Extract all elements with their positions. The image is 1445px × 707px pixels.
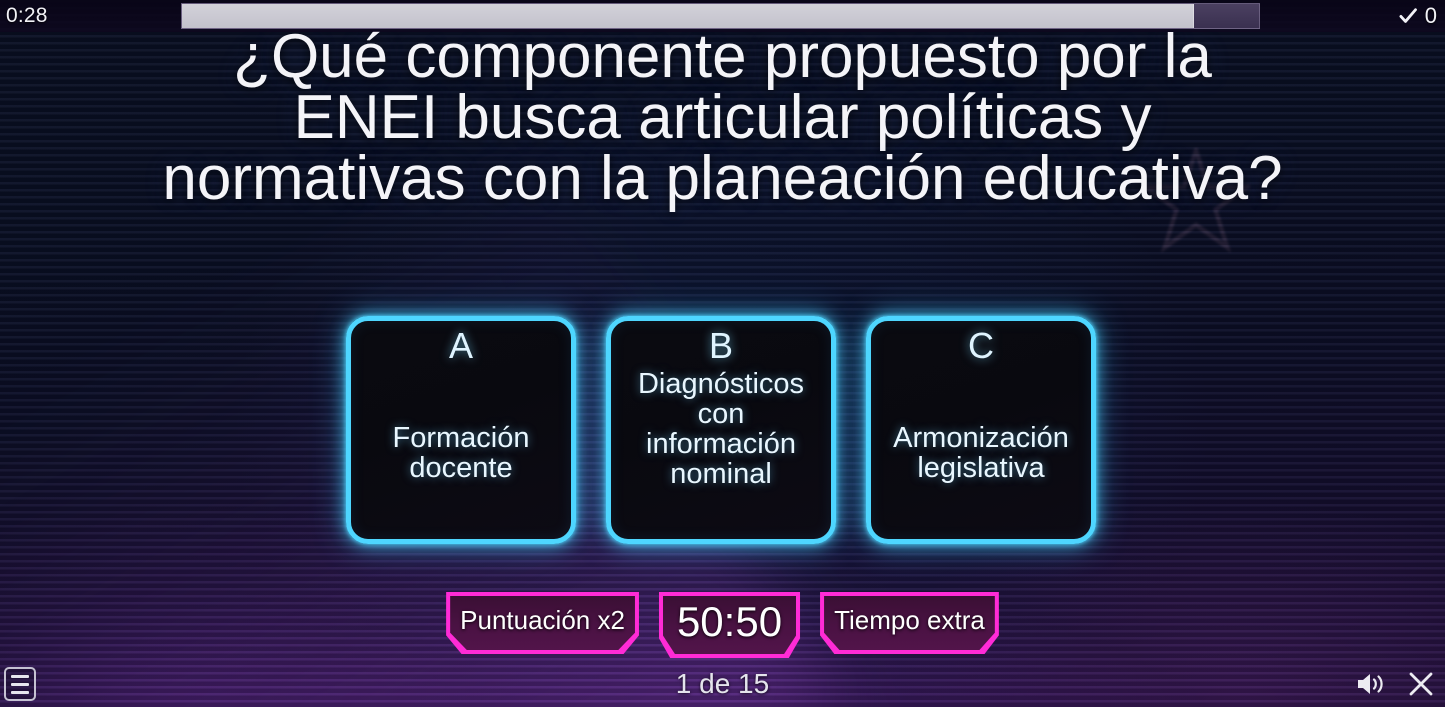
close-icon[interactable] [1407,670,1435,698]
powerup-double-points-button[interactable]: Puntuación x2 [446,592,639,654]
bottom-right-controls [1355,670,1435,698]
countdown-timer: 0:28 [6,4,48,28]
answer-options: A Formación docente B Diagnósticos con i… [346,316,1096,544]
answer-letter-b: B [709,325,733,367]
score-group: 0 [1398,3,1437,29]
score-value: 0 [1425,3,1437,29]
quiz-screen: 0:28 0 ¿Qué componente propuesto por la … [0,0,1445,707]
check-icon [1398,6,1418,26]
answer-card-c[interactable]: C Armonización legislativa [866,316,1096,544]
answer-text-c: Armonización legislativa [871,367,1091,539]
powerup-bar: Puntuación x2 50:50 Tiempo extra [0,592,1445,658]
volume-on-icon[interactable] [1355,671,1385,697]
page-indicator: 1 de 15 [0,668,1445,700]
powerup-fifty-fifty-button[interactable]: 50:50 [659,592,800,658]
answer-text-b: Diagnósticos con información nominal [611,367,831,539]
powerup-fifty-fifty-label: 50:50 [677,601,782,643]
question-progress-bar [181,3,1260,29]
answer-card-a[interactable]: A Formación docente [346,316,576,544]
top-status-bar: 0:28 0 [0,0,1445,32]
answer-letter-a: A [449,325,473,367]
answer-text-a: Formación docente [351,367,571,539]
question-text: ¿Qué componente propuesto por la ENEI bu… [0,26,1445,209]
question-progress-fill [182,4,1194,28]
powerup-extra-time-label: Tiempo extra [834,607,985,633]
answer-card-b[interactable]: B Diagnósticos con información nominal [606,316,836,544]
answer-letter-c: C [968,325,994,367]
powerup-extra-time-button[interactable]: Tiempo extra [820,592,999,654]
bottom-control-bar: 1 de 15 [0,661,1445,707]
powerup-double-points-label: Puntuación x2 [460,607,625,633]
